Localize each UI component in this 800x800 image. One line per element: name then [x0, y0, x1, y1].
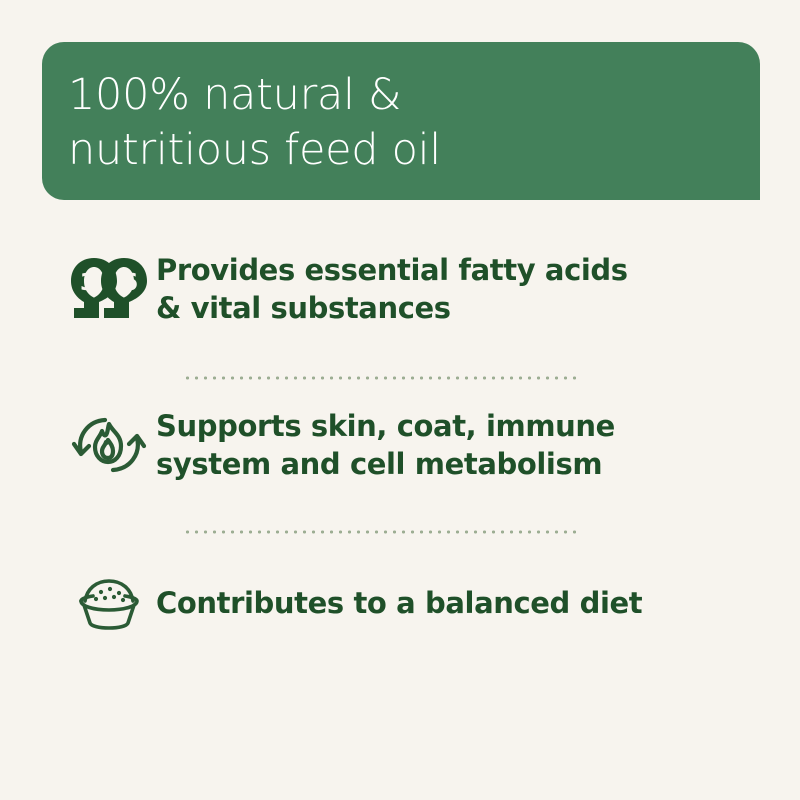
list-item: 3 6 Provides essential fatty acids & vit… — [0, 250, 800, 336]
metabolism-flame-cycle-icon — [68, 406, 156, 482]
divider — [183, 376, 580, 380]
omega-6-label: 6 — [122, 270, 138, 296]
product-benefits-panel: 100% natural & nutritious feed oil 3 6 — [0, 0, 800, 800]
feature-label: Contributes to a balanced diet — [156, 584, 642, 622]
feature-label: Supports skin, coat, immune system and c… — [156, 406, 615, 484]
list-item: Supports skin, coat, immune system and c… — [0, 406, 800, 492]
omega-3-label: 3 — [80, 270, 96, 296]
page-title: 100% natural & nutritious feed oil — [68, 68, 760, 178]
omega-3-6-icon: 3 6 — [68, 250, 156, 324]
list-item: Contributes to a balanced diet — [0, 560, 800, 646]
feature-list: 3 6 Provides essential fatty acids & vit… — [0, 236, 800, 646]
food-bowl-icon — [68, 572, 156, 634]
divider — [183, 530, 580, 534]
header-banner: 100% natural & nutritious feed oil — [42, 42, 760, 200]
feature-label: Provides essential fatty acids & vital s… — [156, 250, 628, 328]
